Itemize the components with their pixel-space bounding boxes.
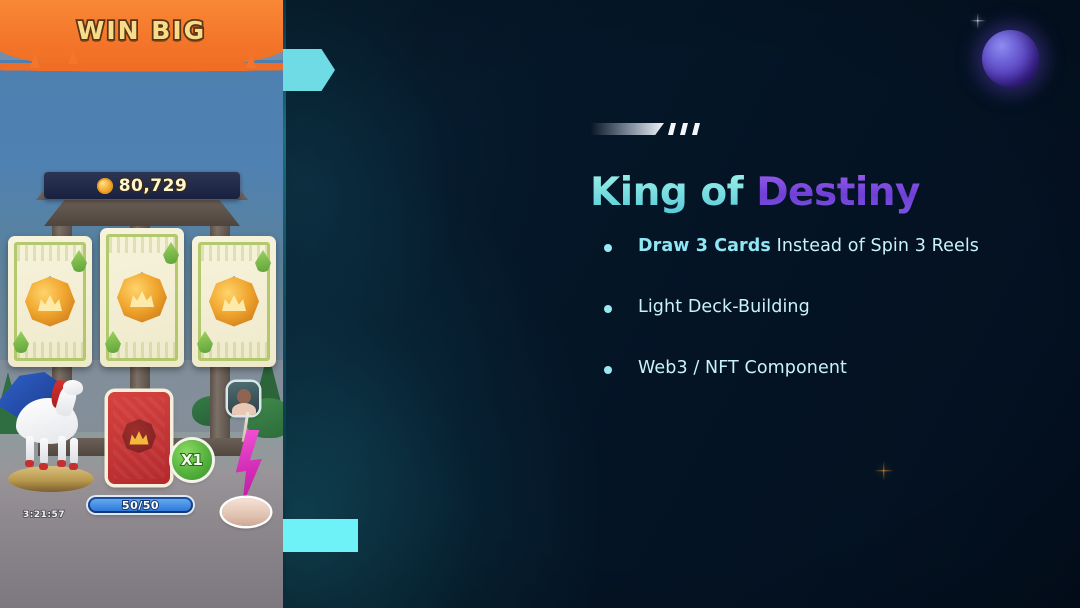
spin-lever-handle[interactable] (222, 498, 270, 526)
list-item-text: Draw 3 Cards Instead of Spin 3 Reels (638, 236, 979, 257)
pegasus-hoof (39, 463, 48, 470)
crown-coin-icon (209, 277, 259, 327)
coin-icon (97, 178, 113, 194)
pegasus-hoof (69, 463, 78, 470)
title-part-two: Destiny (756, 170, 920, 215)
pegasus-hoof (25, 460, 34, 467)
card-slot[interactable] (8, 236, 92, 367)
bullet-dot-icon (604, 244, 612, 252)
amber-sparkle-icon (874, 461, 894, 481)
pegasus-leg (70, 438, 78, 464)
coin-value: 80,729 (119, 176, 188, 196)
card-slot[interactable] (192, 236, 276, 367)
decoration-slash (692, 123, 700, 135)
countdown-timer: 3:21:57 (23, 510, 65, 520)
title-part-one: King of (590, 170, 756, 215)
crown-coin-icon (117, 273, 167, 323)
multiplier-badge[interactable]: X1 (172, 440, 212, 480)
list-item-rest: Instead of Spin 3 Reels (771, 236, 979, 256)
bullet-dot-icon (604, 366, 612, 374)
bullet-list: Draw 3 Cards Instead of Spin 3 Reels Lig… (604, 236, 1024, 419)
list-item: Light Deck-Building (604, 297, 1024, 318)
cyan-rectangle-decor (283, 519, 358, 552)
list-item-emphasis: Draw 3 Cards (638, 236, 771, 256)
crown-emblem-icon (122, 419, 156, 453)
avatar[interactable] (228, 382, 259, 415)
rock-spike-decor (246, 52, 256, 68)
temple-roof (44, 196, 240, 226)
red-card[interactable] (108, 392, 170, 484)
list-item-rest: Light Deck-Building (638, 297, 810, 317)
crown-coin-icon (25, 277, 75, 327)
slide-stage: WIN BIG 80,729 (0, 0, 1080, 608)
pegasus-leg (58, 436, 66, 462)
multiplier-label: X1 (181, 451, 203, 469)
energy-progress-bar[interactable]: 50/50 (88, 497, 193, 513)
decoration-slash (668, 123, 676, 135)
pegasus-pedestal (8, 466, 94, 492)
list-item: Draw 3 Cards Instead of Spin 3 Reels (604, 236, 1024, 257)
rock-spike-decor (68, 48, 78, 64)
page-title: King of Destiny (590, 170, 920, 215)
list-item-text: Light Deck-Building (638, 297, 810, 318)
game-screenshot-panel: WIN BIG 80,729 (0, 0, 283, 608)
planet-icon (982, 30, 1039, 87)
coin-counter[interactable]: 80,729 (44, 172, 240, 199)
list-item: Web3 / NFT Component (604, 358, 1024, 379)
panel-edge-strip (283, 0, 286, 608)
bullet-dot-icon (604, 305, 612, 313)
decoration-slash (680, 123, 688, 135)
pegasus-leg (40, 438, 48, 464)
star-sparkle-icon (970, 13, 986, 29)
pegasus-hoof (57, 460, 66, 467)
rock-spike-decor (30, 52, 40, 68)
win-big-label: WIN BIG (0, 16, 283, 45)
pegasus-leg (26, 436, 34, 462)
decoration-bar (591, 123, 664, 135)
list-item-rest: Web3 / NFT Component (638, 358, 847, 378)
pegasus-head (63, 380, 83, 395)
list-item-text: Web3 / NFT Component (638, 358, 847, 379)
progress-label: 50/50 (122, 499, 159, 512)
card-slot[interactable] (100, 228, 184, 367)
title-decoration (591, 122, 700, 136)
